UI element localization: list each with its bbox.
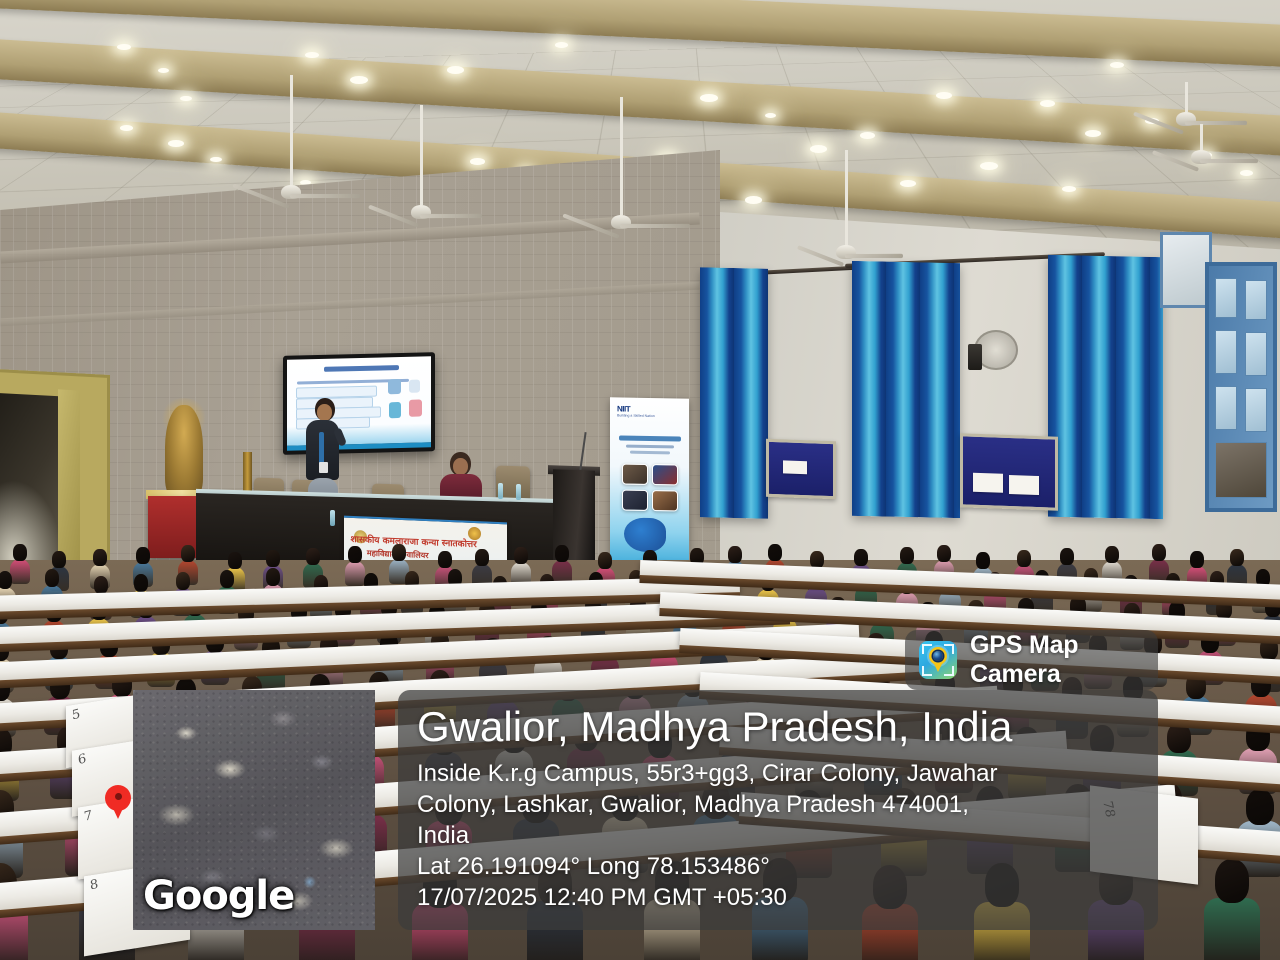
blue-door [1205, 262, 1277, 512]
ceiling-light [700, 94, 718, 102]
audience-head [810, 551, 823, 568]
wall-fan [968, 330, 1020, 374]
audience-head [176, 572, 190, 590]
notice-paper [973, 473, 1003, 493]
audience-head [728, 546, 741, 563]
standee-heading [619, 435, 681, 441]
door-pane [1215, 330, 1237, 374]
audience-head [854, 549, 867, 566]
wall-fan-mount [968, 344, 982, 370]
fan-blade [1200, 159, 1258, 163]
door-pane [1245, 388, 1267, 432]
fan-rod [620, 97, 623, 215]
audience-head [1017, 550, 1030, 567]
audience-head [0, 571, 12, 589]
audience-head [93, 549, 106, 566]
slide-illustration [409, 380, 420, 393]
address-line-2: Colony, Lashkar, Gwalior, Madhya Pradesh… [417, 789, 1147, 820]
audience-head [768, 544, 781, 561]
audience-head [220, 570, 234, 588]
standee-photo-tile [622, 490, 648, 511]
ceiling-light [555, 42, 568, 48]
audience-head [598, 552, 611, 569]
standee-brand: NIIT [617, 404, 630, 413]
standee-tagline: Building a Skilled Nation [617, 413, 655, 418]
audience-head [438, 551, 451, 568]
audience-torso [345, 561, 366, 586]
slide-illustration [409, 399, 422, 416]
window-curtain [1048, 255, 1163, 519]
ceiling-light [470, 158, 485, 165]
audience-head [900, 547, 913, 564]
ceiling-light [350, 76, 368, 84]
audience-head [45, 569, 59, 587]
notice-board [960, 433, 1058, 510]
audience-head [136, 547, 149, 564]
door-pane [1215, 442, 1267, 498]
google-logo: Google [143, 873, 294, 919]
notice-paper [1009, 475, 1039, 495]
ceiling-light [1240, 170, 1253, 176]
desk-number: 6 [77, 751, 87, 768]
audience-head [1230, 549, 1243, 566]
ceiling-light [120, 125, 133, 131]
fan-blade [620, 224, 690, 228]
fan-blade [1185, 121, 1247, 125]
niit-standee: NIIT Building a Skilled Nation [610, 397, 689, 570]
audience-head [1152, 544, 1165, 561]
water-bottle [330, 510, 335, 526]
audience-head [94, 576, 108, 594]
gps-map-camera-watermark: GPS Map Camera [905, 630, 1158, 690]
audience-head [181, 545, 194, 562]
audience-torso [10, 559, 31, 584]
standee-subheading [626, 445, 674, 449]
pin-tip-icon [933, 662, 943, 672]
fan-blade [845, 254, 903, 258]
audience-head [1190, 551, 1203, 568]
audience-head [52, 551, 65, 568]
window-curtain [852, 261, 960, 518]
gps-map-camera-icon [919, 641, 957, 679]
door-pane [1245, 332, 1267, 376]
audience-head [475, 549, 488, 566]
fan-rod [420, 105, 423, 205]
audience-head [937, 545, 950, 562]
bracket-corner-icon [922, 644, 932, 654]
ceiling-light [447, 66, 464, 74]
ceiling-light [980, 162, 998, 170]
audience-head [555, 545, 568, 562]
ceiling-light [1040, 100, 1055, 107]
desk-number: 8 [89, 877, 99, 894]
audience-head [976, 552, 989, 569]
watermark-label: GPS Map Camera [970, 631, 1158, 689]
audience-head [1215, 859, 1250, 903]
standee-photo-tile [622, 464, 648, 485]
door-pane [1215, 278, 1237, 318]
address-line-3: India [417, 820, 1147, 851]
ceiling-light [810, 145, 827, 153]
slide-illustration [389, 402, 401, 418]
fan-rod [1200, 124, 1203, 150]
slide-illustration [388, 379, 401, 394]
fan-rod [1185, 82, 1188, 112]
audience-head [306, 548, 319, 565]
fan-blade [420, 214, 482, 218]
fan-rod [845, 150, 848, 245]
ceiling-light [936, 92, 952, 99]
audience-head [348, 546, 361, 563]
audience-head [266, 568, 280, 586]
notice-paper [783, 460, 807, 474]
audience-head [514, 547, 527, 564]
water-bottle [498, 483, 503, 499]
camera-lens-icon [933, 651, 943, 661]
coordinates: Lat 26.191094° Long 78.153486° [417, 851, 1147, 882]
bracket-corner-icon [944, 666, 954, 676]
ceiling-light [745, 196, 762, 204]
fan-rod [290, 75, 293, 185]
location-title: Gwalior, Madhya Pradesh, India [417, 706, 1012, 749]
audience-head [1060, 548, 1073, 565]
standee-photo-tile [652, 490, 678, 511]
audience-torso [1204, 898, 1259, 960]
saraswati-idol [165, 405, 203, 497]
standee-subheading [630, 451, 670, 455]
map-pin-icon [105, 785, 131, 819]
water-bottle [516, 484, 521, 500]
notice-board [766, 439, 836, 499]
ceiling-light [860, 132, 875, 139]
audience-head [13, 544, 26, 561]
desk-number: 5 [71, 707, 81, 724]
audience-head [392, 544, 405, 561]
address-line-1: Inside K.r.g Campus, 55r3+gg3, Cirar Col… [417, 758, 1147, 789]
ceiling-light [1085, 130, 1101, 137]
fan-blade [290, 194, 360, 198]
desk-number: 7 [83, 808, 93, 825]
audience-head [228, 552, 241, 569]
window-curtain [700, 267, 768, 518]
bracket-corner-icon [922, 666, 932, 676]
door-pane [1215, 386, 1237, 430]
location-details: Inside K.r.g Campus, 55r3+gg3, Cirar Col… [417, 758, 1147, 913]
audience-head [1246, 789, 1275, 825]
screenshot-root: शासकीय कमलाराजा कन्या स्नातकोत्तर महाविद… [0, 0, 1280, 960]
audience-head [1105, 546, 1118, 563]
timestamp: 17/07/2025 12:40 PM GMT +05:30 [417, 882, 1147, 913]
standee-graphic [624, 518, 666, 553]
slide-title-bar [324, 365, 399, 372]
audience-head [266, 550, 279, 567]
audience-head [134, 574, 148, 592]
bracket-corner-icon [944, 644, 954, 654]
standee-photo-tile [652, 464, 678, 485]
door-pane [1245, 280, 1267, 320]
